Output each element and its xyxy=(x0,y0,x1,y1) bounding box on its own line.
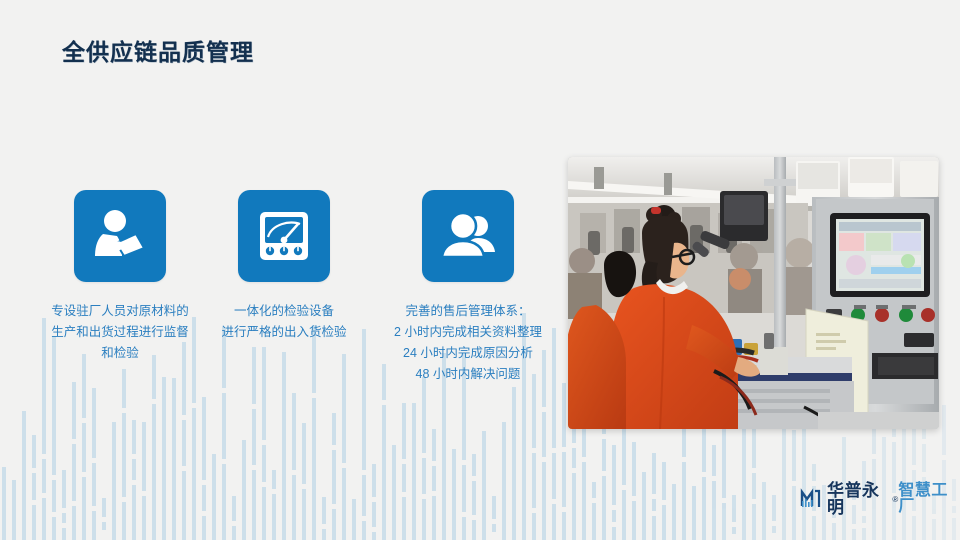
bar-pattern-segment xyxy=(932,519,936,540)
bar-pattern-segment xyxy=(512,387,516,540)
bar-pattern-segment xyxy=(352,499,356,540)
bar-pattern-segment xyxy=(582,462,586,540)
bar-pattern-segment xyxy=(82,477,86,540)
bar-pattern-segment xyxy=(412,403,416,540)
bar-pattern-segment xyxy=(402,464,406,492)
bar-pattern-segment xyxy=(192,408,196,540)
bar-pattern-column xyxy=(382,364,386,540)
bar-pattern-segment xyxy=(132,459,136,479)
bar-pattern-segment xyxy=(432,496,436,540)
gauge-meter-icon xyxy=(238,190,330,282)
bar-pattern-segment xyxy=(802,422,806,540)
bar-pattern-segment xyxy=(322,497,326,523)
bar-pattern-column xyxy=(172,378,176,540)
bar-pattern-column xyxy=(432,429,436,540)
logo-brand-text: 华普永明 xyxy=(827,482,892,516)
bar-pattern-segment xyxy=(862,528,866,540)
bar-pattern-segment xyxy=(202,516,206,540)
hpym-bracket-bars-logo-icon xyxy=(800,488,822,510)
bar-pattern-column xyxy=(402,403,406,540)
bar-pattern-segment xyxy=(912,516,916,540)
bar-pattern-segment xyxy=(82,423,86,472)
bar-pattern-segment xyxy=(852,529,856,540)
bar-pattern-column xyxy=(72,382,76,540)
bar-pattern-segment xyxy=(532,453,536,508)
bar-pattern-segment xyxy=(462,517,466,540)
bar-pattern-segment xyxy=(142,496,146,540)
bar-pattern-segment xyxy=(552,453,556,499)
bar-pattern-segment xyxy=(112,422,116,540)
bar-pattern-column xyxy=(592,482,596,540)
feature-column-after-sales: 完善的售后管理体系： 2 小时内完成相关资料整理 24 小时内完成原因分析 48… xyxy=(380,190,556,385)
bar-pattern-segment xyxy=(862,516,866,523)
factory-production-line-photo xyxy=(568,157,939,429)
bar-pattern-segment xyxy=(222,393,226,459)
bar-pattern-segment xyxy=(652,453,656,494)
bar-pattern-segment xyxy=(32,505,36,540)
bar-pattern-segment xyxy=(362,475,366,517)
bar-pattern-segment xyxy=(32,435,36,469)
bar-pattern-column xyxy=(492,496,496,540)
bar-pattern-segment xyxy=(242,440,246,540)
bar-pattern-segment xyxy=(452,449,456,540)
bar-pattern-segment xyxy=(292,393,296,469)
bar-pattern-segment xyxy=(832,523,836,540)
bar-pattern-column xyxy=(692,486,696,540)
bar-pattern-segment xyxy=(342,468,346,540)
bar-pattern-segment xyxy=(272,470,276,489)
bar-pattern-segment xyxy=(612,510,616,522)
bar-pattern-segment xyxy=(132,420,136,454)
bar-pattern-segment xyxy=(52,517,56,540)
brand-logo: 华普永明®智慧工厂 xyxy=(800,486,960,512)
bar-pattern-column xyxy=(772,495,776,540)
bar-pattern-segment xyxy=(562,512,566,540)
bar-pattern-segment xyxy=(532,374,536,448)
bar-pattern-column xyxy=(322,497,326,540)
bar-pattern-segment xyxy=(432,429,436,461)
bar-pattern-segment xyxy=(602,439,606,472)
bar-pattern-segment xyxy=(762,482,766,540)
bar-pattern-segment xyxy=(422,499,426,540)
bar-pattern-segment xyxy=(272,494,276,540)
bar-pattern-segment xyxy=(622,490,626,540)
bar-pattern-column xyxy=(2,467,6,540)
bar-pattern-segment xyxy=(92,511,96,540)
bar-pattern-segment xyxy=(492,496,496,519)
slide-canvas: 全供应链品质管理 专设驻厂人员对原材料的 生产和出货过程进行监督 和检验 xyxy=(0,0,960,540)
bar-pattern-column xyxy=(272,470,276,540)
bar-pattern-segment xyxy=(362,329,366,469)
bar-pattern-segment xyxy=(632,501,636,540)
bar-pattern-segment xyxy=(332,509,336,540)
bar-pattern-segment xyxy=(662,462,666,500)
bar-pattern-segment xyxy=(222,464,226,540)
feature-column-inspection: 专设驻厂人员对原材料的 生产和出货过程进行监督 和检验 xyxy=(28,190,212,364)
bar-pattern-segment xyxy=(182,420,186,465)
bar-pattern-column xyxy=(112,422,116,540)
bar-pattern-column xyxy=(712,445,716,540)
bar-pattern-segment xyxy=(262,487,266,540)
bar-pattern-column xyxy=(242,440,246,540)
feature-text: 一体化的检验设备 进行严格的出入货检验 xyxy=(213,301,355,343)
bar-pattern-column xyxy=(202,397,206,540)
bar-pattern-segment xyxy=(302,423,306,485)
bar-pattern-segment xyxy=(722,421,726,498)
bar-pattern-segment xyxy=(362,521,366,540)
bar-pattern-segment xyxy=(472,520,476,540)
feature-text: 专设驻厂人员对原材料的 生产和出货过程进行监督 和检验 xyxy=(28,301,212,364)
feature-text: 完善的售后管理体系： 2 小时内完成相关资料整理 24 小时内完成原因分析 48… xyxy=(380,301,556,385)
bar-pattern-column xyxy=(532,374,536,540)
bar-pattern-column xyxy=(22,411,26,540)
bar-pattern-segment xyxy=(292,475,296,540)
bar-pattern-segment xyxy=(462,465,466,512)
bar-pattern-segment xyxy=(312,398,316,540)
bar-pattern-column xyxy=(672,484,676,540)
bar-pattern-segment xyxy=(42,459,46,493)
bar-pattern-column xyxy=(82,354,86,540)
bar-pattern-segment xyxy=(562,383,566,446)
bar-pattern-column xyxy=(392,445,396,540)
bar-pattern-column xyxy=(652,453,656,540)
bar-pattern-column xyxy=(452,449,456,540)
bar-pattern-segment xyxy=(172,378,176,540)
bar-pattern-column xyxy=(62,470,66,540)
bar-pattern-segment xyxy=(732,495,736,523)
bar-pattern-segment xyxy=(612,445,616,505)
bar-pattern-segment xyxy=(122,369,126,409)
bar-pattern-segment xyxy=(482,431,486,540)
bar-pattern-segment xyxy=(182,471,186,540)
bar-pattern-segment xyxy=(252,470,256,540)
bar-pattern-column xyxy=(802,422,806,540)
bar-pattern-segment xyxy=(752,473,756,499)
bar-pattern-segment xyxy=(592,503,596,540)
bar-pattern-column xyxy=(342,354,346,540)
bar-pattern-segment xyxy=(542,462,546,540)
bar-pattern-column xyxy=(732,495,736,540)
page-title: 全供应链品质管理 xyxy=(62,33,254,67)
bar-pattern-column xyxy=(102,498,106,540)
bar-pattern-segment xyxy=(662,505,666,540)
bar-pattern-column xyxy=(412,403,416,540)
bar-pattern-segment xyxy=(752,504,756,540)
bar-pattern-segment xyxy=(942,405,946,455)
bar-pattern-segment xyxy=(212,454,216,540)
inspector-person-clipboard-icon xyxy=(74,190,166,282)
bar-pattern-column xyxy=(252,347,256,540)
bar-pattern-column xyxy=(152,355,156,540)
bar-pattern-segment xyxy=(922,444,926,472)
bar-pattern-segment xyxy=(422,458,426,495)
bar-pattern-column xyxy=(122,369,126,540)
bar-pattern-segment xyxy=(602,476,606,540)
bar-pattern-segment xyxy=(332,450,336,504)
bar-pattern-column xyxy=(562,383,566,540)
bar-pattern-segment xyxy=(502,422,506,540)
bar-pattern-column xyxy=(332,413,336,540)
bar-pattern-segment xyxy=(202,397,206,480)
bar-pattern-segment xyxy=(652,499,656,511)
bar-pattern-segment xyxy=(62,513,66,522)
bar-pattern-segment xyxy=(552,504,556,540)
bar-pattern-column xyxy=(232,496,236,540)
bar-pattern-column xyxy=(32,435,36,540)
bar-pattern-segment xyxy=(652,516,656,540)
bar-pattern-column xyxy=(182,342,186,540)
bar-pattern-column xyxy=(282,352,286,540)
bar-pattern-segment xyxy=(162,377,166,540)
bar-pattern-segment xyxy=(142,422,146,491)
bar-pattern-segment xyxy=(642,472,646,540)
bar-pattern-segment xyxy=(232,526,236,540)
bar-pattern-column xyxy=(162,377,166,540)
bar-pattern-segment xyxy=(632,442,636,496)
bar-pattern-segment xyxy=(672,484,676,540)
bar-pattern-segment xyxy=(202,485,206,511)
bar-pattern-segment xyxy=(592,482,596,497)
bar-pattern-segment xyxy=(282,352,286,540)
bar-pattern-segment xyxy=(262,347,266,441)
bar-pattern-segment xyxy=(322,529,326,540)
bar-pattern-segment xyxy=(132,485,136,540)
bar-pattern-segment xyxy=(952,518,956,540)
bar-pattern-segment xyxy=(372,464,376,497)
bar-pattern-segment xyxy=(682,462,686,540)
bar-pattern-segment xyxy=(232,496,236,521)
bar-pattern-column xyxy=(472,454,476,540)
bar-pattern-column xyxy=(642,472,646,540)
bar-pattern-segment xyxy=(2,467,6,540)
bar-pattern-column xyxy=(142,422,146,540)
bar-pattern-column xyxy=(632,442,636,540)
bar-pattern-segment xyxy=(532,513,536,540)
bar-pattern-column xyxy=(92,388,96,540)
bar-pattern-column xyxy=(372,464,376,540)
feature-column-equipment: 一体化的检验设备 进行严格的出入货检验 xyxy=(213,190,355,343)
bar-pattern-segment xyxy=(812,516,816,540)
bar-pattern-segment xyxy=(122,413,126,496)
bar-pattern-column xyxy=(762,482,766,540)
bar-pattern-segment xyxy=(712,445,716,476)
bar-pattern-column xyxy=(662,462,666,540)
bar-pattern-segment xyxy=(812,464,816,481)
bar-pattern-column xyxy=(312,325,316,540)
bar-pattern-column xyxy=(302,423,306,540)
bar-pattern-segment xyxy=(472,454,476,476)
bar-pattern-column xyxy=(52,336,56,540)
bar-pattern-segment xyxy=(392,445,396,540)
bar-pattern-column xyxy=(482,431,486,540)
bar-pattern-segment xyxy=(772,526,776,533)
bar-pattern-segment xyxy=(72,444,76,501)
bar-pattern-segment xyxy=(62,528,66,540)
bar-pattern-segment xyxy=(422,377,426,453)
bar-pattern-column xyxy=(942,405,946,540)
bar-pattern-column xyxy=(362,329,366,540)
bar-pattern-column xyxy=(262,347,266,540)
bar-pattern-segment xyxy=(792,486,796,540)
bar-pattern-segment xyxy=(332,413,336,445)
bar-pattern-segment xyxy=(22,411,26,540)
bar-pattern-column xyxy=(422,377,426,540)
bar-pattern-segment xyxy=(472,481,476,516)
bar-pattern-segment xyxy=(302,489,306,540)
bar-pattern-column xyxy=(352,499,356,540)
bar-pattern-segment xyxy=(382,405,386,540)
bar-pattern-column xyxy=(512,387,516,540)
bar-pattern-segment xyxy=(712,481,716,540)
bar-pattern-segment xyxy=(572,448,576,469)
bar-pattern-segment xyxy=(402,403,406,458)
bar-pattern-segment xyxy=(32,473,36,499)
bar-pattern-segment xyxy=(372,502,376,526)
bar-pattern-segment xyxy=(12,480,16,540)
bar-pattern-segment xyxy=(542,412,546,457)
bar-pattern-column xyxy=(222,327,226,540)
bar-pattern-segment xyxy=(102,522,106,531)
bar-pattern-segment xyxy=(72,506,76,540)
bar-pattern-segment xyxy=(562,452,566,508)
bar-pattern-segment xyxy=(612,527,616,540)
bar-pattern-segment xyxy=(62,470,66,509)
bar-pattern-column xyxy=(212,454,216,540)
bar-pattern-segment xyxy=(342,354,346,463)
bar-pattern-segment xyxy=(152,404,156,540)
bar-pattern-segment xyxy=(702,477,706,540)
bar-pattern-segment xyxy=(52,480,56,512)
bar-pattern-segment xyxy=(252,347,256,404)
bar-pattern-segment xyxy=(742,422,746,540)
bar-pattern-segment xyxy=(72,382,76,438)
two-users-icon xyxy=(422,190,514,282)
bar-pattern-column xyxy=(132,420,136,540)
bar-pattern-segment xyxy=(92,388,96,458)
bar-pattern-segment xyxy=(772,495,776,521)
bar-pattern-segment xyxy=(42,498,46,540)
bar-pattern-segment xyxy=(252,409,256,465)
bar-pattern-segment xyxy=(372,532,376,540)
bar-pattern-column xyxy=(612,445,616,540)
bar-pattern-column xyxy=(292,393,296,540)
bar-pattern-segment xyxy=(262,445,266,481)
bar-pattern-segment xyxy=(402,497,406,540)
bar-pattern-column xyxy=(502,422,506,540)
logo-tagline: 智慧工厂 xyxy=(898,483,960,515)
bar-pattern-segment xyxy=(432,466,436,491)
bar-pattern-segment xyxy=(572,473,576,540)
bar-pattern-column xyxy=(742,422,746,540)
bar-pattern-column xyxy=(12,480,16,540)
bar-pattern-segment xyxy=(722,503,726,540)
bar-pattern-segment xyxy=(122,502,126,540)
bar-pattern-segment xyxy=(732,527,736,533)
bar-pattern-segment xyxy=(492,524,496,532)
bar-pattern-segment xyxy=(692,486,696,540)
bar-pattern-segment xyxy=(792,430,796,481)
bar-pattern-segment xyxy=(92,463,96,506)
bar-pattern-segment xyxy=(102,498,106,517)
